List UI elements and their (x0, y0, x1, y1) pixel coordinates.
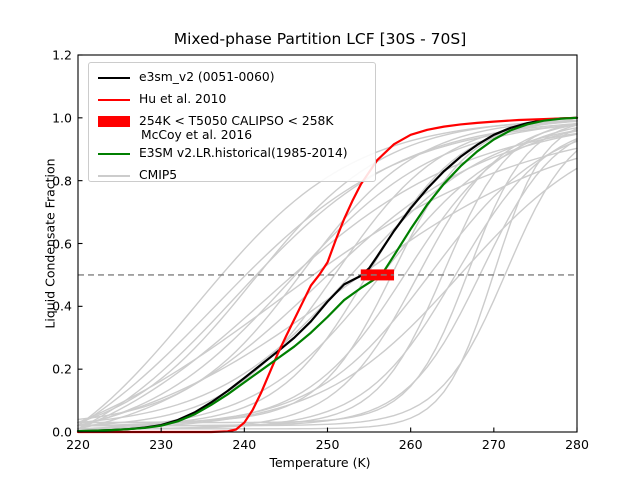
figure-canvas: Mixed-phase Partition LCF [30S - 70S] Te… (0, 0, 640, 480)
legend-entry: 254K < T5050 CALIPSO < 258K McCoy et al.… (89, 112, 375, 144)
legend-swatch-line (98, 77, 130, 79)
y-tick-label: 0.0 (32, 425, 72, 440)
y-tick-label: 0.6 (32, 236, 72, 251)
legend-entry: CMIP5 (89, 166, 375, 188)
chart-legend: e3sm_v2 (0051-0060)Hu et al. 2010254K < … (88, 62, 376, 182)
legend-swatch-line (98, 99, 130, 101)
legend-entry: e3sm_v2 (0051-0060) (89, 68, 375, 90)
legend-entry: Hu et al. 2010 (89, 90, 375, 112)
legend-label: Hu et al. 2010 (139, 92, 226, 106)
legend-label: CMIP5 (139, 168, 177, 182)
legend-label: e3sm_v2 (0051-0060) (139, 70, 275, 84)
x-tick-label: 270 (482, 437, 506, 452)
x-tick-label: 250 (316, 437, 340, 452)
legend-label: E3SM v2.LR.historical(1985-2014) (139, 146, 348, 160)
x-tick-label: 280 (565, 437, 589, 452)
legend-swatch-line (98, 175, 130, 177)
legend-entry: E3SM v2.LR.historical(1985-2014) (89, 144, 375, 166)
x-tick-label: 230 (149, 437, 173, 452)
y-tick-label: 1.2 (32, 48, 72, 63)
x-tick-label: 260 (399, 437, 423, 452)
y-tick-label: 0.2 (32, 362, 72, 377)
legend-label: 254K < T5050 CALIPSO < 258K (139, 114, 333, 128)
legend-swatch-bar (98, 116, 130, 127)
legend-label-secondary: McCoy et al. 2016 (141, 128, 252, 142)
y-tick-label: 0.4 (32, 299, 72, 314)
y-tick-label: 1.0 (32, 110, 72, 125)
y-tick-label: 0.8 (32, 173, 72, 188)
x-tick-label: 240 (232, 437, 256, 452)
x-axis-label: Temperature (K) (0, 455, 640, 470)
legend-swatch-line (98, 153, 130, 155)
